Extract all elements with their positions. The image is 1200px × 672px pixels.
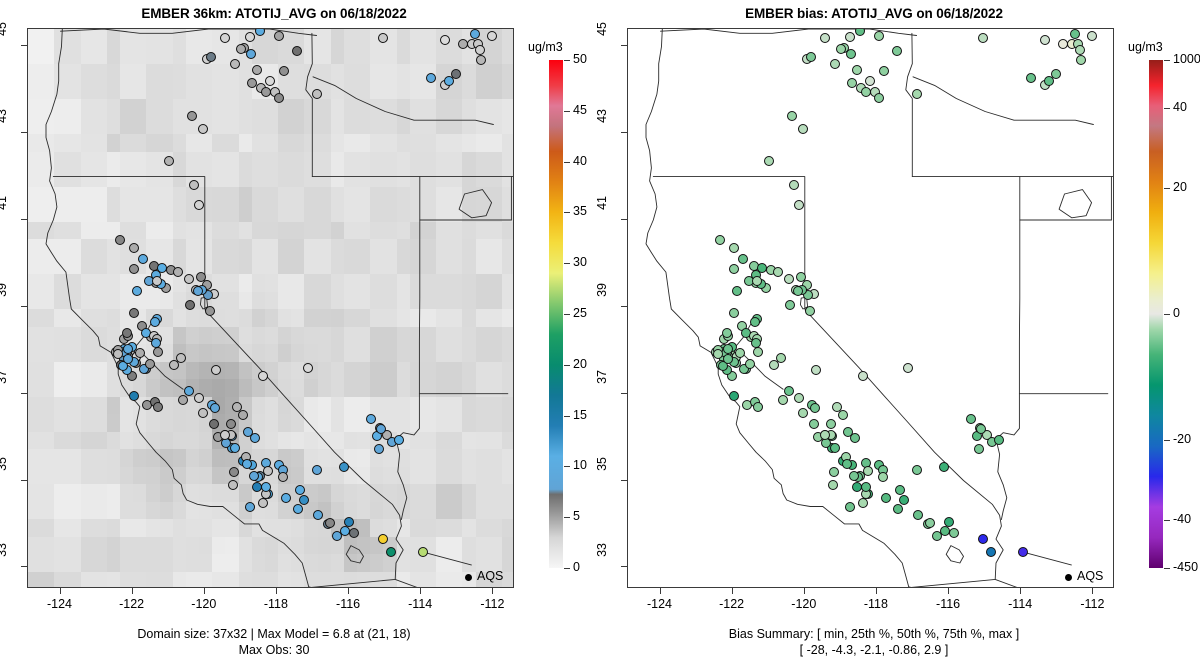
x-axis-label: -118 (846, 597, 906, 611)
colorbar-tick-label: 45 (573, 103, 587, 117)
observation-site-marker[interactable] (1018, 547, 1028, 557)
panel-model: EMBER 36km: ATOTIJ_AVG on 06/18/2022 AQS… (0, 0, 600, 672)
x-axis-tick (948, 588, 949, 594)
observation-site-marker[interactable] (753, 347, 763, 357)
observation-site-marker[interactable] (798, 408, 808, 418)
observation-site-marker[interactable] (129, 308, 139, 318)
observation-site-marker[interactable] (153, 347, 163, 357)
x-axis-label: -124 (630, 597, 690, 611)
colorbar-tick (564, 365, 570, 366)
observation-site-marker[interactable] (193, 286, 203, 296)
observation-site-marker[interactable] (892, 46, 902, 56)
observation-site-marker[interactable] (279, 66, 289, 76)
bias-map-plot-area[interactable]: AQS (627, 28, 1114, 588)
observation-site-marker[interactable] (912, 465, 922, 475)
observation-site-marker[interactable] (205, 306, 215, 316)
colorbar-tick-label: 15 (573, 408, 587, 422)
x-axis-tick (420, 588, 421, 594)
observation-site-marker[interactable] (723, 354, 733, 364)
observation-site-marker[interactable] (418, 547, 428, 557)
y-axis-tick (21, 566, 27, 567)
observation-site-marker[interactable] (312, 89, 322, 99)
model-caption-line1: Domain size: 37x32 | Max Model = 6.8 at … (0, 626, 548, 642)
observation-site-marker[interactable] (299, 495, 309, 505)
observation-site-marker[interactable] (209, 419, 219, 429)
aqs-legend-label: AQS (477, 569, 503, 583)
observation-site-marker[interactable] (899, 495, 909, 505)
observation-site-marker[interactable] (881, 493, 891, 503)
colorbar-tick (564, 60, 570, 61)
observation-site-marker[interactable] (826, 419, 836, 429)
observation-site-marker[interactable] (753, 402, 763, 412)
observation-site-marker[interactable] (150, 317, 160, 327)
y-axis-tick (21, 393, 27, 394)
y-axis-label-wrap: 35 (600, 480, 620, 496)
observation-site-marker[interactable] (129, 264, 139, 274)
colorbar-tick (564, 162, 570, 163)
observation-site-marker[interactable] (828, 480, 838, 490)
observation-site-marker[interactable] (784, 274, 794, 284)
observation-site-marker[interactable] (444, 76, 454, 86)
observation-site-marker[interactable] (785, 300, 795, 310)
observation-site-marker[interactable] (242, 459, 252, 469)
x-axis-label: -114 (990, 597, 1050, 611)
observation-site-marker[interactable] (895, 485, 905, 495)
observation-site-marker[interactable] (838, 410, 848, 420)
observation-site-marker[interactable] (842, 459, 852, 469)
observation-site-marker[interactable] (820, 430, 830, 440)
observation-site-marker[interactable] (849, 471, 859, 481)
x-axis-label: -112 (1062, 597, 1122, 611)
colorbar-tick-label: -40 (1173, 512, 1191, 526)
observation-site-marker[interactable] (211, 365, 221, 375)
observation-site-marker[interactable] (1044, 76, 1054, 86)
observation-site-marker[interactable] (903, 363, 913, 373)
y-axis-label-wrap: 43 (600, 132, 620, 148)
x-axis-label: -116 (318, 597, 378, 611)
observation-site-marker[interactable] (145, 359, 155, 369)
colorbar-tick-label: 20 (573, 357, 587, 371)
observation-site-marker[interactable] (135, 348, 145, 358)
model-colorbar (549, 60, 563, 568)
y-axis-tick (21, 45, 27, 46)
colorbar-tick-label: 50 (573, 52, 587, 66)
observation-site-marker[interactable] (426, 73, 436, 83)
x-axis-label: -122 (702, 597, 762, 611)
observation-site-marker[interactable] (986, 547, 996, 557)
observation-site-marker[interactable] (378, 33, 388, 43)
observation-site-marker[interactable] (829, 467, 839, 477)
observation-site-marker[interactable] (978, 534, 988, 544)
observation-site-marker[interactable] (855, 28, 865, 36)
observation-site-marker[interactable] (976, 424, 986, 434)
observation-site-marker[interactable] (1076, 55, 1086, 65)
observation-site-marker[interactable] (715, 235, 725, 245)
observation-site-marker[interactable] (738, 254, 748, 264)
observation-site-marker[interactable] (206, 52, 216, 62)
y-axis-label-wrap: 33 (0, 566, 20, 582)
y-axis-label: 41 (0, 196, 9, 240)
observation-site-marker[interactable] (258, 498, 268, 508)
colorbar-tick-label: 30 (573, 255, 587, 269)
y-axis-label-wrap: 45 (600, 45, 620, 61)
observation-site-marker[interactable] (440, 35, 450, 45)
observation-site-marker[interactable] (226, 419, 236, 429)
colorbar-tick-label: 0 (1173, 306, 1180, 320)
observation-site-marker[interactable] (830, 59, 840, 69)
y-axis-tick (621, 393, 627, 394)
observation-site-marker[interactable] (230, 443, 240, 453)
colorbar-tick-label: 25 (573, 306, 587, 320)
x-axis-label: -120 (174, 597, 234, 611)
model-colorbar-unit: ug/m3 (528, 40, 563, 54)
colorbar-tick (564, 263, 570, 264)
y-axis-label-wrap: 41 (600, 219, 620, 235)
y-axis-label: 45 (0, 22, 9, 66)
observation-site-marker[interactable] (250, 433, 260, 443)
observation-site-marker[interactable] (796, 272, 806, 282)
observation-site-marker[interactable] (178, 395, 188, 405)
observation-site-marker[interactable] (278, 472, 288, 482)
observation-site-marker[interactable] (764, 156, 774, 166)
colorbar-tick (1164, 108, 1170, 109)
observation-site-marker[interactable] (132, 286, 142, 296)
observation-site-marker[interactable] (281, 493, 291, 503)
x-axis-tick (660, 588, 661, 594)
colorbar-tick (1164, 568, 1170, 569)
colorbar-tick (1164, 60, 1170, 61)
observation-site-marker[interactable] (339, 462, 349, 472)
observation-site-marker[interactable] (246, 49, 256, 59)
colorbar-tick-label: 5 (573, 509, 580, 523)
observation-site-marker[interactable] (151, 338, 161, 348)
observation-site-marker[interactable] (313, 510, 323, 520)
y-axis-label-wrap: 41 (0, 219, 20, 235)
observation-site-marker[interactable] (793, 286, 803, 296)
observation-site-marker[interactable] (189, 180, 199, 190)
y-axis-label: 39 (595, 283, 609, 327)
colorbar-tick-label: 35 (573, 204, 587, 218)
colorbar-tick (1164, 188, 1170, 189)
bias-colorbar (1149, 60, 1163, 568)
observation-site-marker[interactable] (194, 393, 204, 403)
x-axis-tick (132, 588, 133, 594)
observation-site-marker[interactable] (185, 300, 195, 310)
observation-site-marker[interactable] (787, 111, 797, 121)
observation-site-marker[interactable] (874, 93, 884, 103)
observation-site-marker[interactable] (394, 435, 404, 445)
observation-site-marker[interactable] (249, 471, 259, 481)
colorbar-tick (564, 466, 570, 467)
observation-site-marker[interactable] (265, 76, 275, 86)
panel-model-title: EMBER 36km: ATOTIJ_AVG on 06/18/2022 (0, 6, 548, 21)
y-axis-label: 39 (0, 283, 9, 327)
y-axis-label: 37 (0, 370, 9, 414)
observation-site-marker[interactable] (255, 28, 265, 36)
observation-site-marker[interactable] (893, 504, 903, 514)
observation-site-marker[interactable] (274, 31, 284, 41)
observation-site-marker[interactable] (874, 31, 884, 41)
x-axis-tick (1020, 588, 1021, 594)
observation-site-marker[interactable] (1075, 45, 1085, 55)
observation-site-marker[interactable] (386, 547, 396, 557)
y-axis-label: 35 (595, 457, 609, 501)
x-axis-tick (804, 588, 805, 594)
observation-site-marker[interactable] (729, 308, 739, 318)
colorbar-tick (564, 314, 570, 315)
y-axis-label-wrap: 35 (0, 480, 20, 496)
bias-observation-sites (628, 29, 1114, 588)
observation-site-marker[interactable] (949, 528, 959, 538)
y-axis-label: 37 (595, 370, 609, 414)
observation-site-marker[interactable] (810, 403, 820, 413)
observation-site-marker[interactable] (845, 502, 855, 512)
y-axis-tick (621, 566, 627, 567)
observation-site-marker[interactable] (865, 76, 875, 86)
y-axis-label-wrap: 37 (0, 393, 20, 409)
model-map-plot-area[interactable]: AQS (27, 28, 514, 588)
observation-site-marker[interactable] (776, 353, 786, 363)
observation-site-marker[interactable] (1040, 35, 1050, 45)
observation-site-marker[interactable] (194, 200, 204, 210)
observation-site-marker[interactable] (863, 466, 873, 476)
observation-site-marker[interactable] (230, 59, 240, 69)
colorbar-tick-label: 10000 (1173, 52, 1200, 66)
observation-site-marker[interactable] (293, 504, 303, 514)
x-axis-tick (60, 588, 61, 594)
y-axis-tick (621, 480, 627, 481)
observation-site-marker[interactable] (228, 480, 238, 490)
observation-site-marker[interactable] (723, 344, 733, 354)
observation-site-marker[interactable] (1026, 73, 1036, 83)
observation-site-marker[interactable] (475, 45, 485, 55)
observation-site-marker[interactable] (187, 111, 197, 121)
x-axis-tick (348, 588, 349, 594)
observation-site-marker[interactable] (173, 267, 183, 277)
colorbar-tick-label: 40 (1173, 100, 1187, 114)
observation-site-marker[interactable] (878, 472, 888, 482)
observation-site-marker[interactable] (378, 534, 388, 544)
observation-site-marker[interactable] (1070, 29, 1080, 39)
observation-site-marker[interactable] (123, 344, 133, 354)
x-axis-tick (492, 588, 493, 594)
x-axis-label: -120 (774, 597, 834, 611)
observation-site-marker[interactable] (153, 402, 163, 412)
observation-site-marker[interactable] (850, 433, 860, 443)
observation-site-marker[interactable] (750, 317, 760, 327)
colorbar-tick-label: 0 (573, 560, 580, 574)
y-axis-label: 43 (0, 109, 9, 153)
colorbar-tick (564, 111, 570, 112)
observation-site-marker[interactable] (229, 467, 239, 477)
observation-site-marker[interactable] (809, 419, 819, 429)
observation-site-marker[interactable] (713, 349, 723, 359)
y-axis-label: 41 (595, 196, 609, 240)
observation-site-marker[interactable] (263, 466, 273, 476)
observation-site-marker[interactable] (123, 354, 133, 364)
observation-site-marker[interactable] (220, 430, 230, 440)
observation-site-marker[interactable] (925, 518, 935, 528)
aqs-legend-label: AQS (1077, 569, 1103, 583)
observation-site-marker[interactable] (966, 414, 976, 424)
x-axis-tick (276, 588, 277, 594)
bias-caption-line2: [ -28, -4.3, -2.1, -0.86, 2.9 ] (600, 642, 1148, 658)
y-axis-tick (21, 306, 27, 307)
observation-site-marker[interactable] (129, 391, 139, 401)
colorbar-tick (564, 416, 570, 417)
y-axis-label: 33 (0, 543, 9, 587)
y-axis-tick (621, 132, 627, 133)
observation-site-marker[interactable] (974, 444, 984, 454)
y-axis-tick (21, 219, 27, 220)
observation-site-marker[interactable] (805, 306, 815, 316)
model-observation-sites (28, 29, 514, 588)
observation-site-marker[interactable] (295, 485, 305, 495)
observation-site-marker[interactable] (487, 31, 497, 41)
bias-colorbar-unit: ug/m3 (1128, 40, 1163, 54)
colorbar-tick-label: 40 (573, 154, 587, 168)
observation-site-marker[interactable] (198, 408, 208, 418)
bias-caption-line1: Bias Summary: [ min, 25th %, 50th %, 75t… (600, 626, 1148, 642)
observation-site-marker[interactable] (806, 52, 816, 62)
colorbar-tick (564, 212, 570, 213)
observation-site-marker[interactable] (376, 424, 386, 434)
y-axis-tick (21, 132, 27, 133)
colorbar-tick (564, 568, 570, 569)
observation-site-marker[interactable] (861, 87, 871, 97)
observation-site-marker[interactable] (789, 180, 799, 190)
colorbar-tick-label: 10 (573, 458, 587, 472)
observation-site-marker[interactable] (729, 391, 739, 401)
observation-site-marker[interactable] (732, 286, 742, 296)
observation-site-marker[interactable] (470, 29, 480, 39)
observation-site-marker[interactable] (784, 386, 794, 396)
observation-site-marker[interactable] (830, 443, 840, 453)
observation-site-marker[interactable] (751, 338, 761, 348)
observation-site-marker[interactable] (115, 235, 125, 245)
x-axis-tick (1092, 588, 1093, 594)
y-axis-label: 35 (0, 457, 9, 501)
observation-site-marker[interactable] (184, 274, 194, 284)
observation-site-marker[interactable] (261, 87, 271, 97)
observation-site-marker[interactable] (138, 254, 148, 264)
observation-site-marker[interactable] (349, 528, 359, 538)
y-axis-tick (621, 219, 627, 220)
observation-site-marker[interactable] (292, 46, 302, 56)
observation-site-marker[interactable] (220, 33, 230, 43)
observation-site-marker[interactable] (778, 395, 788, 405)
observation-site-marker[interactable] (129, 243, 139, 253)
x-axis-label: -114 (390, 597, 450, 611)
y-axis-label-wrap: 37 (600, 393, 620, 409)
y-axis-tick (621, 45, 627, 46)
x-axis-tick (732, 588, 733, 594)
x-axis-label: -116 (918, 597, 978, 611)
colorbar-tick (1164, 520, 1170, 521)
y-axis-label: 43 (595, 109, 609, 153)
observation-site-marker[interactable] (912, 89, 922, 99)
y-axis-tick (621, 306, 627, 307)
panel-bias: EMBER bias: ATOTIJ_AVG on 06/18/2022 AQS… (600, 0, 1200, 672)
observation-site-marker[interactable] (798, 124, 808, 134)
y-axis-label: 33 (595, 543, 609, 587)
observation-site-marker[interactable] (176, 353, 186, 363)
observation-site-marker[interactable] (1087, 31, 1097, 41)
observation-site-marker[interactable] (913, 510, 923, 520)
x-axis-tick (204, 588, 205, 594)
figure-canvas: EMBER 36km: ATOTIJ_AVG on 06/18/2022 AQS… (0, 0, 1200, 672)
y-axis-label: 45 (595, 22, 609, 66)
observation-site-marker[interactable] (858, 498, 868, 508)
observation-site-marker[interactable] (258, 371, 268, 381)
observation-site-marker[interactable] (184, 386, 194, 396)
observation-site-marker[interactable] (773, 267, 783, 277)
observation-site-marker[interactable] (858, 371, 868, 381)
observation-site-marker[interactable] (245, 32, 255, 42)
observation-site-marker[interactable] (735, 348, 745, 358)
aqs-legend-dot (1065, 574, 1072, 581)
observation-site-marker[interactable] (879, 66, 889, 76)
observation-site-marker[interactable] (852, 65, 862, 75)
aqs-legend-dot (465, 574, 472, 581)
observation-site-marker[interactable] (198, 124, 208, 134)
y-axis-tick (21, 480, 27, 481)
panel-bias-title: EMBER bias: ATOTIJ_AVG on 06/18/2022 (600, 6, 1148, 21)
observation-site-marker[interactable] (939, 462, 949, 472)
observation-site-marker[interactable] (811, 365, 821, 375)
model-caption-line2: Max Obs: 30 (0, 642, 548, 658)
observation-site-marker[interactable] (274, 93, 284, 103)
colorbar-tick (1164, 314, 1170, 315)
observation-site-marker[interactable] (994, 435, 1004, 445)
observation-site-marker[interactable] (794, 393, 804, 403)
observation-site-marker[interactable] (196, 272, 206, 282)
observation-site-marker[interactable] (845, 32, 855, 42)
observation-site-marker[interactable] (820, 33, 830, 43)
x-axis-tick (876, 588, 877, 594)
observation-site-marker[interactable] (210, 403, 220, 413)
observation-site-marker[interactable] (245, 502, 255, 512)
observation-site-marker[interactable] (312, 465, 322, 475)
observation-site-marker[interactable] (374, 444, 384, 454)
observation-site-marker[interactable] (303, 363, 313, 373)
observation-site-marker[interactable] (729, 264, 739, 274)
observation-site-marker[interactable] (846, 49, 856, 59)
y-axis-label-wrap: 45 (0, 45, 20, 61)
observation-site-marker[interactable] (252, 65, 262, 75)
x-axis-label: -112 (462, 597, 522, 611)
observation-site-marker[interactable] (476, 55, 486, 65)
observation-site-marker[interactable] (164, 156, 174, 166)
observation-site-marker[interactable] (325, 518, 335, 528)
colorbar-tick-label: 20 (1173, 180, 1187, 194)
y-axis-label-wrap: 39 (600, 306, 620, 322)
x-axis-label: -124 (30, 597, 90, 611)
observation-site-marker[interactable] (238, 410, 248, 420)
colorbar-tick (1164, 440, 1170, 441)
observation-site-marker[interactable] (978, 33, 988, 43)
observation-site-marker[interactable] (113, 349, 123, 359)
y-axis-label-wrap: 43 (0, 132, 20, 148)
y-axis-label-wrap: 33 (600, 566, 620, 582)
x-axis-label: -118 (246, 597, 306, 611)
observation-site-marker[interactable] (729, 243, 739, 253)
observation-site-marker[interactable] (745, 359, 755, 369)
x-axis-label: -122 (102, 597, 162, 611)
observation-site-marker[interactable] (794, 200, 804, 210)
observation-site-marker[interactable] (366, 414, 376, 424)
y-axis-label-wrap: 39 (0, 306, 20, 322)
